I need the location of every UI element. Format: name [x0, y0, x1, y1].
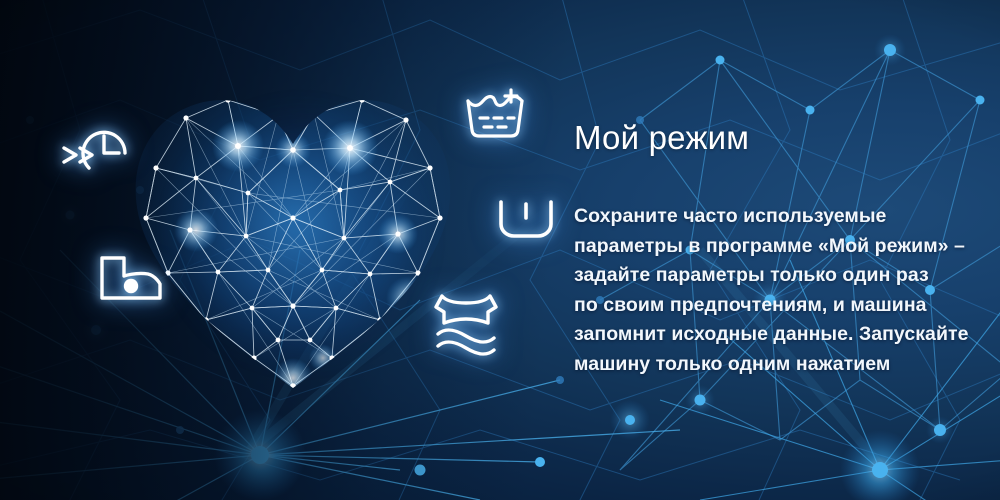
promo-banner: Мой режим Сохраните часто используемые п…	[0, 0, 1000, 500]
vignette-overlay	[0, 0, 1000, 500]
